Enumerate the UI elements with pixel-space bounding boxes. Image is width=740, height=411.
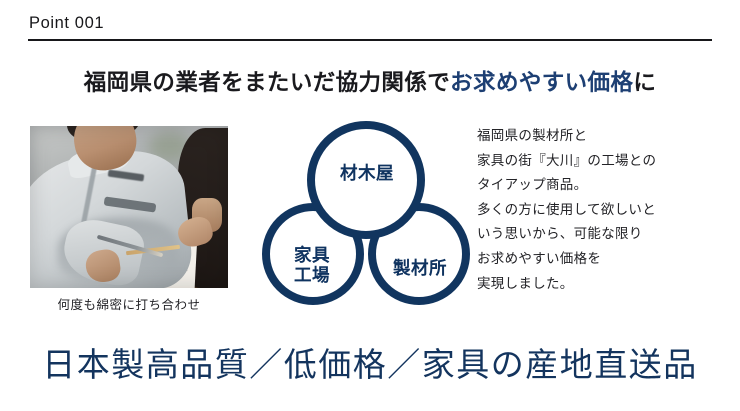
description-line: タイアップ商品。 — [477, 173, 727, 198]
header-divider — [28, 39, 712, 41]
circle-label-furniture-line-1: 家具 — [294, 245, 330, 265]
circle-label-lumber-dealer: 材木屋 — [308, 164, 426, 184]
description-line: 多くの方に使用して欲しいと — [477, 198, 727, 223]
partnership-diagram: 材木屋 家具工場 製材所 — [262, 120, 472, 310]
headline-segment-highlight: お求めやすい価格 — [450, 70, 633, 95]
description-text: 福岡県の製材所と 家具の街『大川』の工場との タイアップ商品。 多くの方に使用し… — [477, 124, 727, 296]
photo-caption: 何度も綿密に打ち合わせ — [30, 296, 228, 314]
circle-label-furniture-factory: 家具工場 — [266, 246, 358, 285]
photo-block: 何度も綿密に打ち合わせ — [30, 126, 228, 314]
headline-segment-dark-1: 福岡県の業者をまたいだ協力関係で — [84, 70, 450, 95]
description-line: 福岡県の製材所と — [477, 124, 727, 149]
description-line: いう思いから、可能な限り — [477, 222, 727, 247]
photo-vignette — [30, 126, 228, 288]
meeting-photo — [30, 126, 228, 288]
page-title: 福岡県の業者をまたいだ協力関係でお求めやすい価格に — [0, 68, 740, 98]
promo-panel: Point 001 福岡県の業者をまたいだ協力関係でお求めやすい価格に — [0, 0, 740, 411]
description-line: お求めやすい価格を — [477, 247, 727, 272]
headline-segment-dark-2: に — [633, 70, 656, 95]
tagline: 日本製高品質／低価格／家具の産地直送品 — [0, 344, 740, 388]
point-label: Point 001 — [28, 12, 712, 34]
description-line: 実現しました。 — [477, 272, 727, 297]
description-line: 家具の街『大川』の工場との — [477, 149, 727, 174]
circle-label-furniture-line-2: 工場 — [294, 265, 330, 285]
point-header: Point 001 — [28, 12, 712, 41]
circle-label-sawmill: 製材所 — [372, 259, 468, 279]
